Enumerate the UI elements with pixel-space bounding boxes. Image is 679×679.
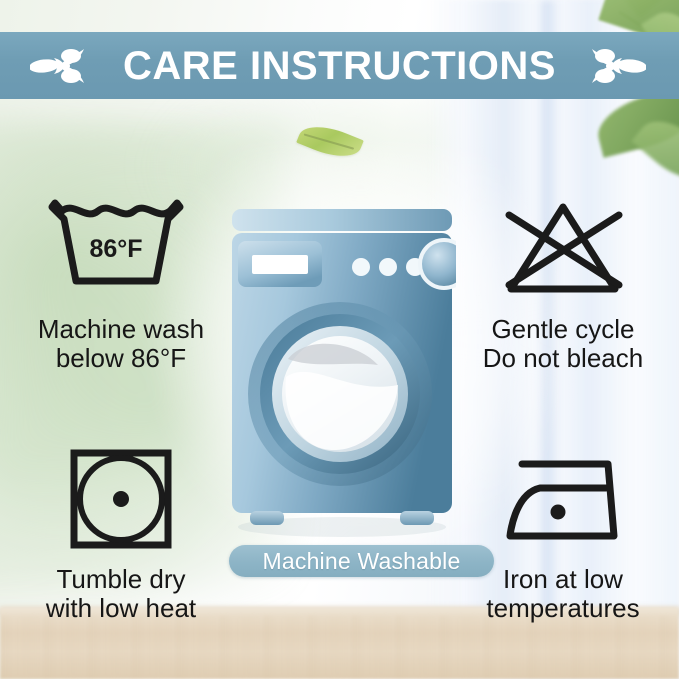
- fleur-de-lis-icon: [588, 44, 646, 88]
- wash-temperature-value: 86°F: [89, 235, 142, 263]
- care-symbol-caption: Machine wash below 86°F: [6, 315, 236, 373]
- iron-icon: [448, 442, 678, 557]
- care-symbol-caption: Gentle cycle Do not bleach: [448, 315, 678, 373]
- care-symbol-iron: Iron at low temperatures: [448, 442, 678, 623]
- care-symbol-tumble-dry: Tumble dry with low heat: [6, 442, 236, 623]
- care-instructions-graphic: CARE INSTRUCTIONS 86°F Machine wash belo…: [0, 0, 679, 679]
- tumble-dry-icon: [6, 442, 236, 557]
- machine-washable-badge: Machine Washable: [229, 545, 494, 577]
- wash-tub-icon: 86°F: [6, 192, 236, 307]
- care-symbol-caption: Tumble dry with low heat: [6, 565, 236, 623]
- care-symbol-machine-wash: 86°F Machine wash below 86°F: [6, 192, 236, 373]
- badge-label: Machine Washable: [263, 548, 461, 575]
- table-wood-grain: [0, 615, 679, 679]
- fleur-de-lis-icon: [30, 44, 88, 88]
- triangle-crossed-icon: [448, 192, 678, 307]
- care-symbol-do-not-bleach: Gentle cycle Do not bleach: [448, 192, 678, 373]
- washing-machine-illustration: [228, 209, 456, 539]
- header-banner: CARE INSTRUCTIONS: [0, 32, 679, 99]
- page-title: CARE INSTRUCTIONS: [123, 46, 556, 86]
